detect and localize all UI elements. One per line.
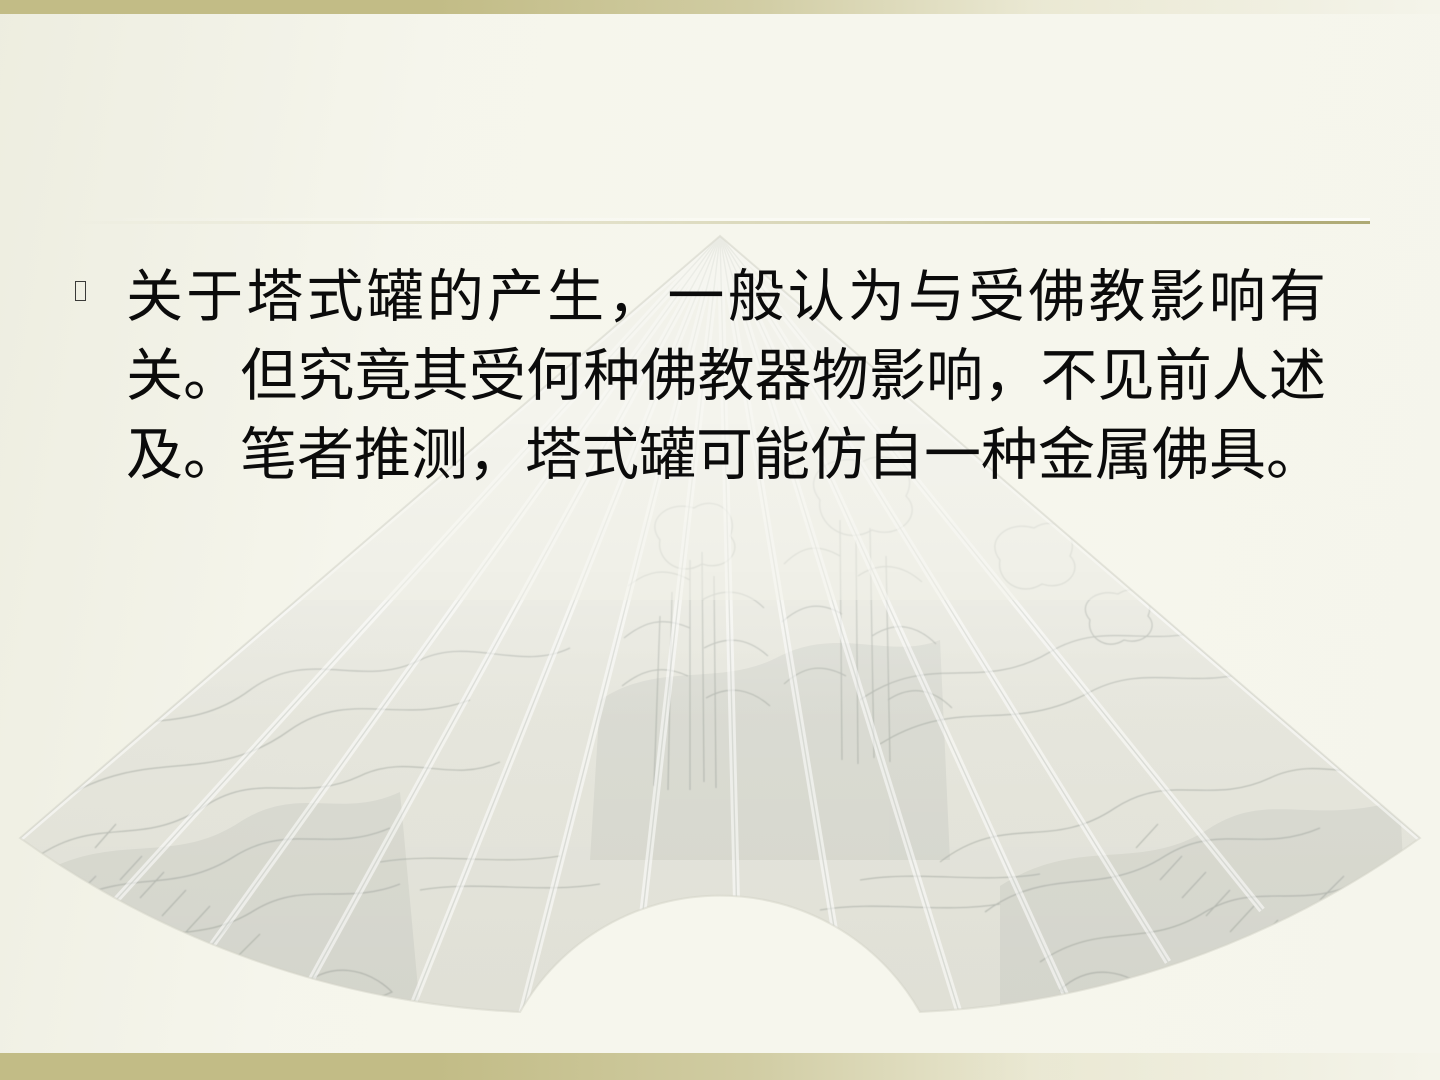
- presentation-slide: 关于塔式罐的产生，一般认为与受佛教影响有关。但究竟其受何种佛教器物影响，不见前人…: [0, 0, 1440, 1080]
- tofu-box-icon: [75, 281, 86, 301]
- slide-content: 关于塔式罐的产生，一般认为与受佛教影响有关。但究竟其受何种佛教器物影响，不见前人…: [0, 0, 1440, 1080]
- bullet-list-item: 关于塔式罐的产生，一般认为与受佛教影响有关。但究竟其受何种佛教器物影响，不见前人…: [72, 258, 1392, 495]
- bullet-missing-glyph-icon: [72, 280, 88, 306]
- body-paragraph: 关于塔式罐的产生，一般认为与受佛教影响有关。但究竟其受何种佛教器物影响，不见前人…: [126, 258, 1326, 495]
